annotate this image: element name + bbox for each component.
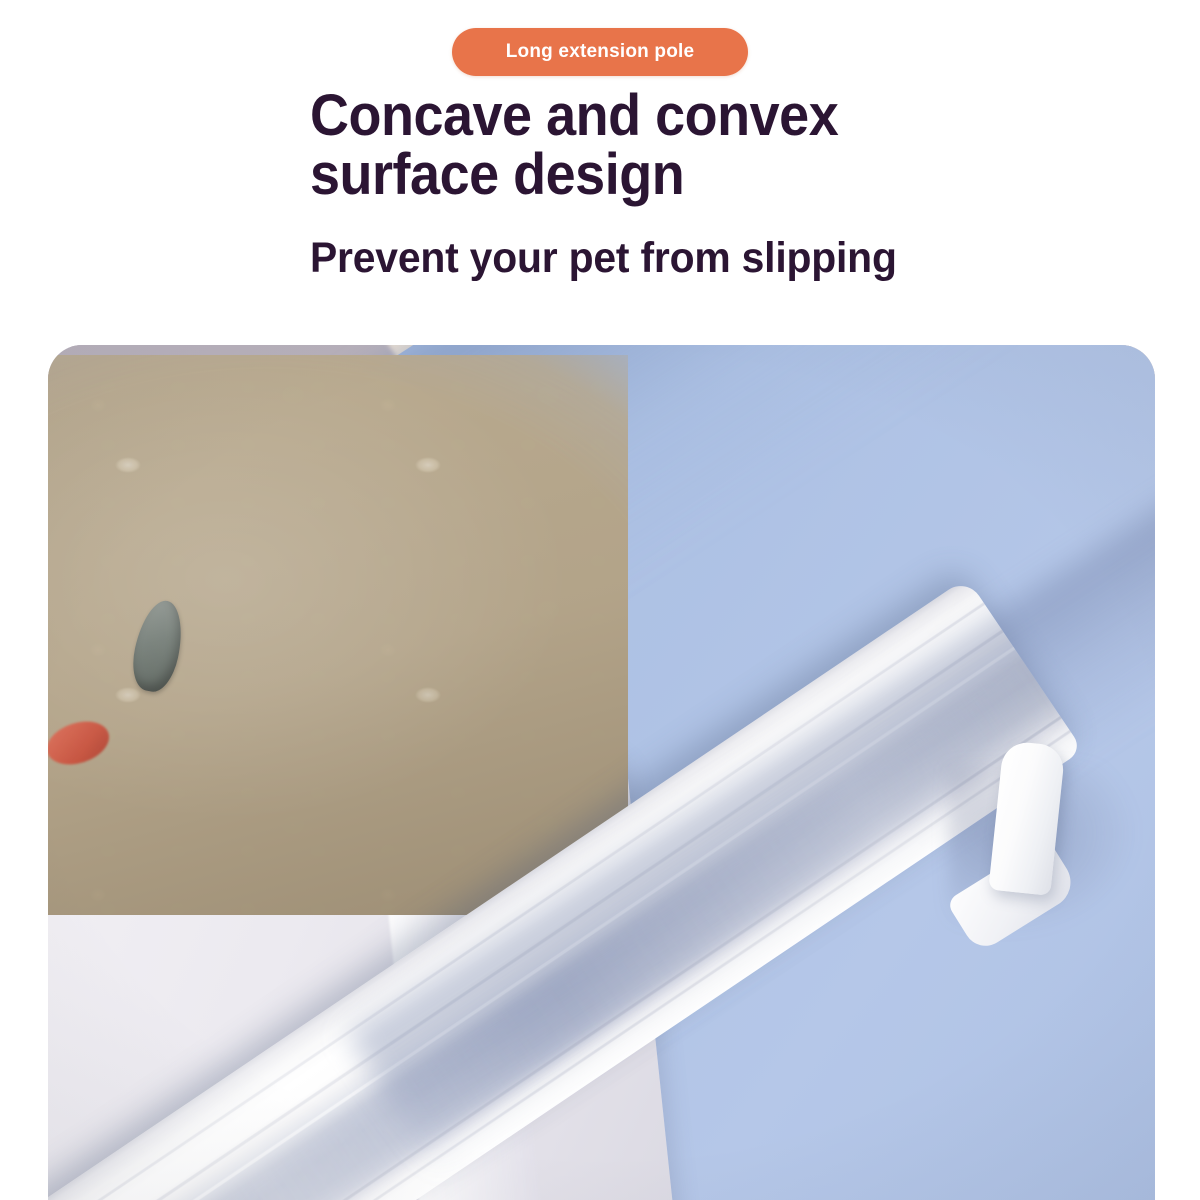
- product-photo: [48, 345, 1155, 1200]
- badge-label: Long extension pole: [506, 41, 695, 63]
- page-title: Concave and convex surface design: [310, 86, 1017, 204]
- header-section: Long extension pole Concave and convex s…: [0, 0, 1200, 345]
- page-subtitle: Prevent your pet from slipping: [310, 236, 1032, 281]
- badge-long-extension-pole: Long extension pole: [452, 28, 748, 76]
